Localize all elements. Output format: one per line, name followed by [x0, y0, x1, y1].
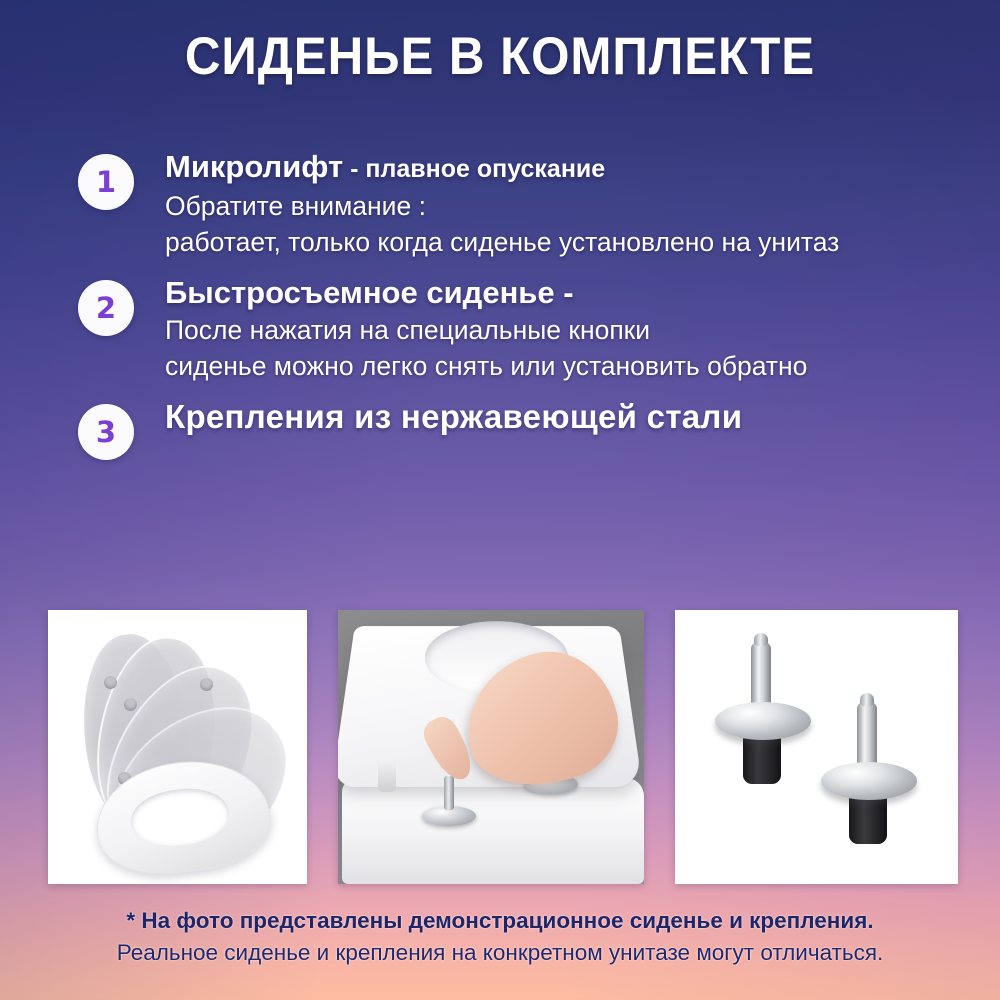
feature-heading-strong-2: Быстросъемное сиденье -: [165, 275, 574, 310]
product-info-poster: СИДЕНЬЕ В КОМПЛЕКТЕ 1 Микролифт - плавно…: [0, 0, 1000, 1000]
feature-number-badge-3: 3: [78, 404, 134, 460]
photo-soft-close-seat: [48, 610, 307, 884]
photo-steel-fixings: [675, 610, 958, 884]
feature-line-2-2: сиденье можно легко снять или установить…: [165, 348, 982, 384]
feature-heading-rest-1: - плавное опускание: [343, 155, 605, 183]
toilet-bowl: [342, 778, 644, 884]
feature-item-2: 2 Быстросъемное сиденье - После нажатия …: [0, 274, 1000, 384]
page-title: СИДЕНЬЕ В КОМПЛЕКТЕ: [35, 28, 965, 86]
feature-number-badge-1: 1: [78, 154, 134, 210]
feature-text-2: Быстросъемное сиденье - После нажатия на…: [0, 274, 1000, 384]
soft-close-sequence-illustration: [48, 610, 307, 884]
feature-line-2-1: После нажатия на специальные кнопки: [165, 312, 982, 348]
photo-strip: [48, 610, 958, 884]
feature-line-1-1: Обратите внимание :: [165, 188, 982, 224]
photo-quick-release-demo: [338, 610, 644, 884]
disclaimer-line-1: * На фото представлены демонстрационное …: [0, 905, 1000, 937]
seat-bumper-icon: [124, 698, 137, 711]
feature-item-3: 3 Крепления из нержавеющей стали: [0, 398, 1000, 456]
fixing-chrome-cap: [821, 762, 917, 800]
fixing-chrome-cap: [715, 702, 811, 740]
seat-bumper-icon: [104, 676, 117, 689]
feature-text-3: Крепления из нержавеющей стали: [0, 398, 1000, 436]
feature-heading-3: Крепления из нержавеющей стали: [165, 398, 982, 436]
seat-bumper-icon: [200, 678, 213, 691]
quick-release-illustration: [338, 610, 644, 884]
feature-line-1-2: работает, только когда сиденье установле…: [165, 224, 982, 260]
feature-number-badge-2: 2: [78, 280, 134, 336]
disclaimer-line-2: Реальное сиденье и крепления на конкретн…: [0, 937, 1000, 969]
feature-list: 1 Микролифт - плавное опускание Обратите…: [0, 148, 1000, 470]
chrome-fixing-stud: [422, 806, 476, 826]
feature-heading-strong-1: Микролифт: [165, 149, 343, 184]
feature-text-1: Микролифт - плавное опускание Обратите в…: [0, 148, 1000, 260]
feature-heading-1: Микролифт - плавное опускание: [165, 148, 982, 188]
feature-heading-2: Быстросъемное сиденье -: [165, 274, 982, 312]
disclaimer-note: * На фото представлены демонстрационное …: [0, 905, 1000, 969]
feature-item-1: 1 Микролифт - плавное опускание Обратите…: [0, 148, 1000, 260]
hinge-pin: [378, 758, 396, 792]
